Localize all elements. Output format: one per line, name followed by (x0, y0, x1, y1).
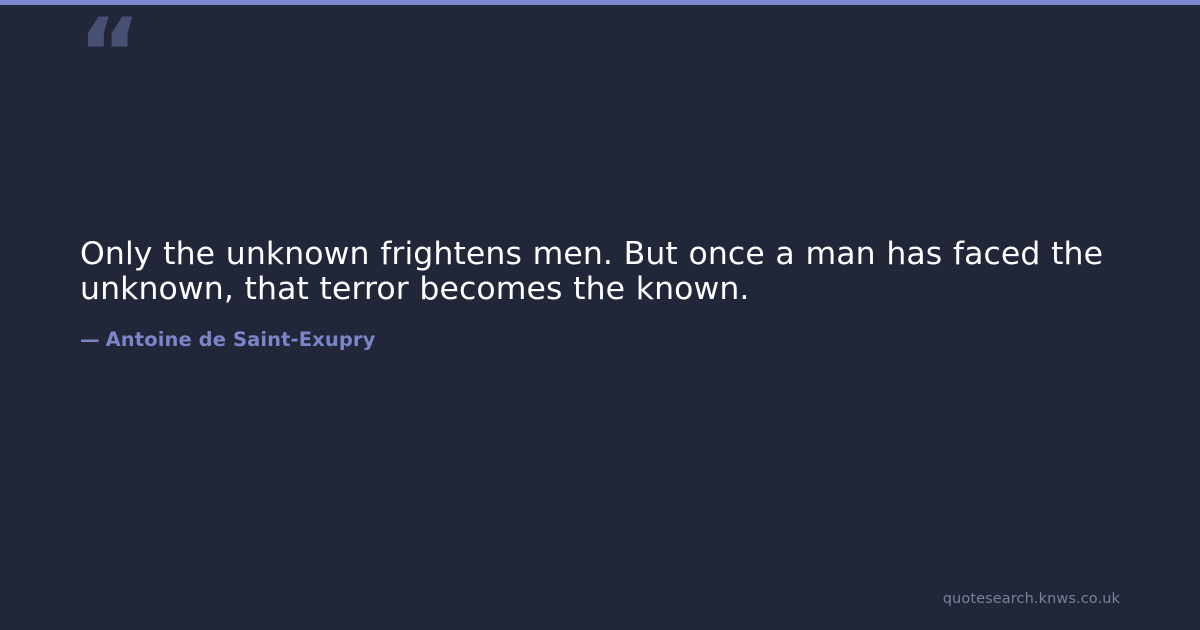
attribution-author: Antoine de Saint-Exupry (106, 328, 376, 351)
top-accent-bar (0, 0, 1200, 5)
quote-text: Only the unknown frightens men. But once… (80, 237, 1120, 307)
quote-attribution: —Antoine de Saint-Exupry (80, 307, 1120, 352)
quote-block: Only the unknown frightens men. But once… (80, 237, 1120, 352)
attribution-dash: — (80, 328, 106, 352)
open-quote-icon: “ (78, 6, 139, 102)
source-watermark[interactable]: quotesearch.knws.co.uk (943, 590, 1120, 608)
quote-card: “ Only the unknown frightens men. But on… (0, 0, 1200, 630)
